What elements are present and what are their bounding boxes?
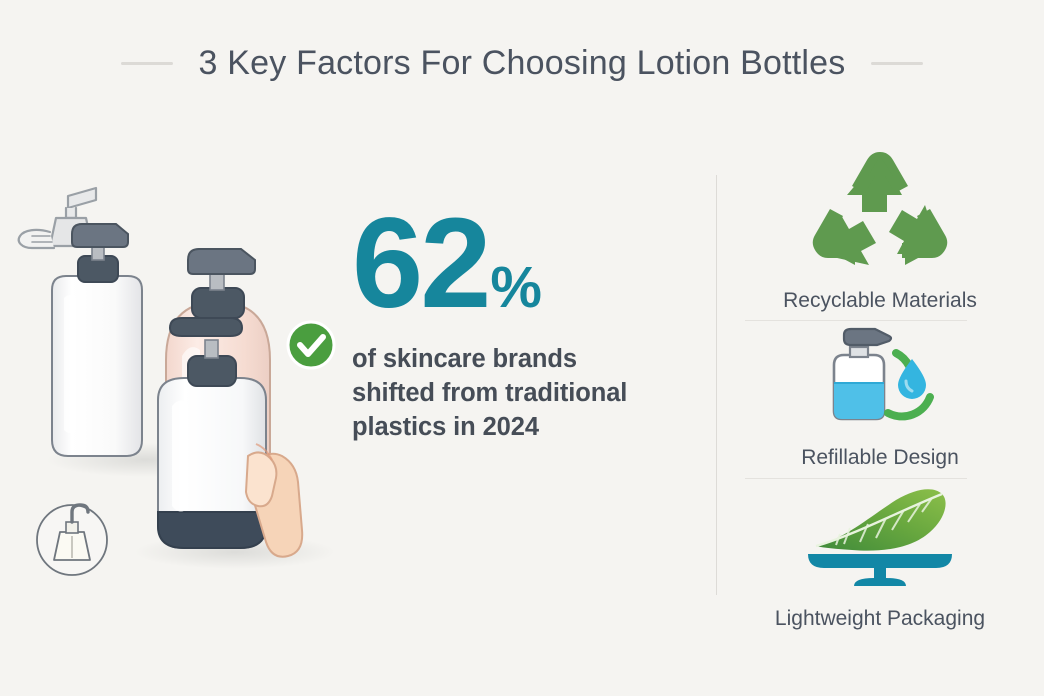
feature-label-lightweight: Lightweight Packaging [775,608,985,629]
feature-item-lightweight: Lightweight Packaging [730,480,1030,629]
pedestal-shape [808,554,952,586]
feather-shape [816,489,946,550]
stat-description-line-2: shifted from traditional [352,377,692,411]
feature-label-recyclable: Recyclable Materials [783,290,977,311]
header: 3 Key Factors For Choosing Lotion Bottle… [0,34,1044,92]
green-check-badge [288,322,334,368]
refillable-bottle-icon [812,325,948,429]
dispenser-circle-icon [37,505,107,575]
stat-number: 62 [352,205,488,323]
feature-item-recyclable: Recyclable Materials [730,150,1030,311]
stat-description: of skincare brands shifted from traditio… [352,343,692,445]
feature-list: Recyclable Materials [730,150,1030,630]
stat-description-line-3: plastics in 2024 [352,411,692,445]
statistic-block: 62 % of skincare brands shifted from tra… [352,205,692,444]
title-dash-right-icon [871,62,923,65]
page-title: 3 Key Factors For Choosing Lotion Bottle… [199,46,846,80]
infographic-canvas: 3 Key Factors For Choosing Lotion Bottle… [0,0,1044,696]
recycle-icon [807,150,953,272]
stat-percent-sign: % [490,261,542,314]
vertical-divider [716,175,717,595]
feature-label-refillable: Refillable Design [801,447,959,468]
tall-white-bottle [52,224,142,456]
stat-description-line-1: of skincare brands [352,343,692,377]
stat-figure: 62 % [352,205,692,323]
feather-on-stand-icon [792,480,968,592]
title-dash-left-icon [121,62,173,65]
lotion-bottles-illustration [10,160,360,590]
feature-item-refillable: Refillable Design [730,325,1030,468]
